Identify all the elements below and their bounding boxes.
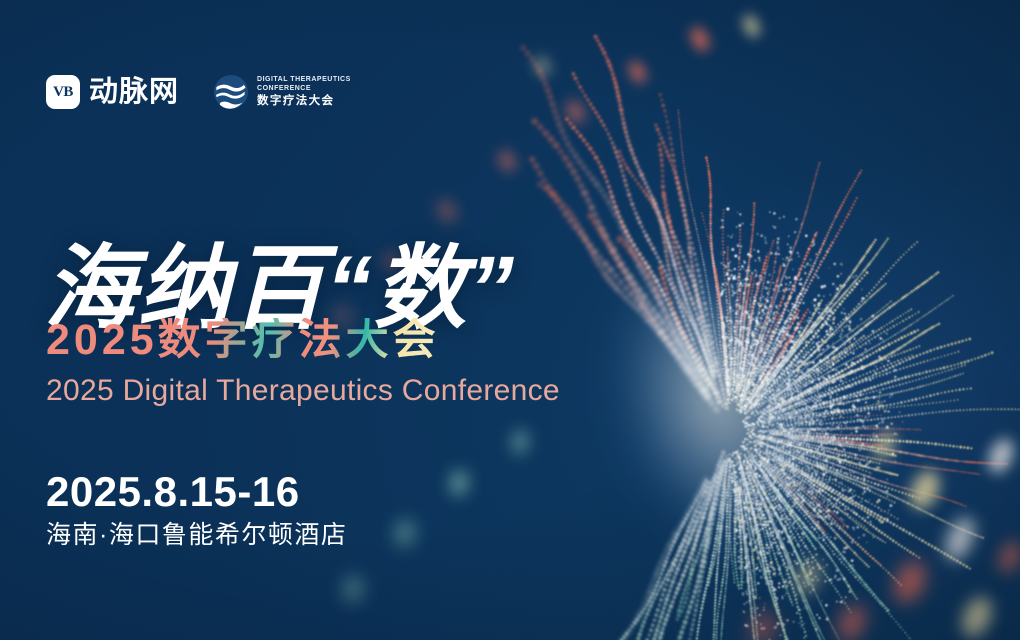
vb-wordmark: 动脉网 xyxy=(89,78,179,107)
conference-poster: VB 动脉网 DIGITAL THERAPEUTICS CONFERENCE 数… xyxy=(0,0,1020,640)
dtc-conference-logo[interactable]: DIGITAL THERAPEUTICS CONFERENCE 数字疗法大会 xyxy=(213,74,351,110)
vb-mark-icon: VB xyxy=(46,75,80,109)
dtc-english-line1: DIGITAL THERAPEUTICS xyxy=(257,76,351,85)
dtc-english-line2: CONFERENCE xyxy=(257,85,351,94)
globe-icon xyxy=(213,74,249,110)
logo-bar: VB 动脉网 DIGITAL THERAPEUTICS CONFERENCE 数… xyxy=(46,74,351,110)
dtc-logo-text: DIGITAL THERAPEUTICS CONFERENCE 数字疗法大会 xyxy=(257,76,351,109)
subtitle-chinese: 2025数字疗法大会 xyxy=(46,318,440,363)
event-venue: 海南·海口鲁能希尔顿酒店 xyxy=(46,521,347,550)
dtc-chinese-name: 数字疗法大会 xyxy=(257,95,351,108)
subtitle-english: 2025 Digital Therapeutics Conference xyxy=(46,374,560,407)
event-date: 2025.8.15-16 xyxy=(46,470,300,514)
vb-data-logo[interactable]: VB 动脉网 xyxy=(46,75,179,109)
